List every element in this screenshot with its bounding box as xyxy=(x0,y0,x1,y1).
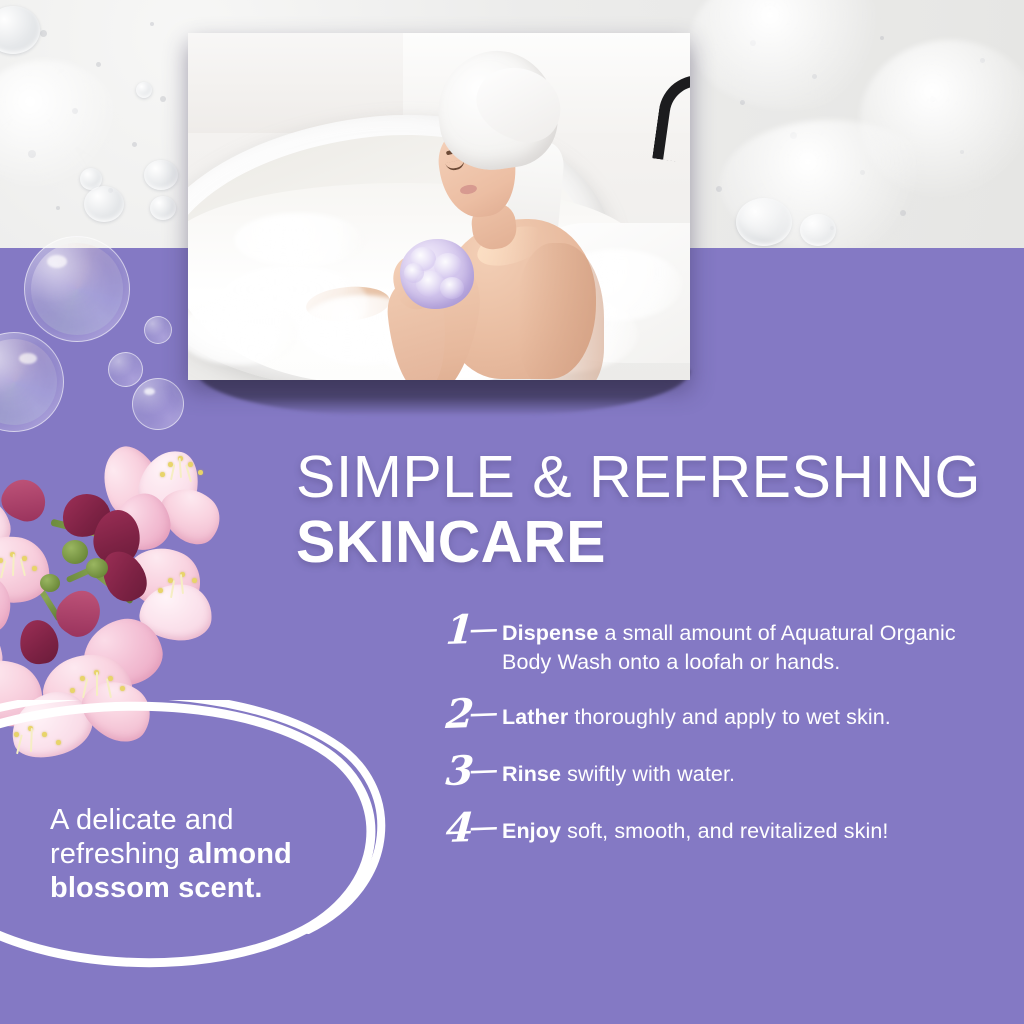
step-rest-4: soft, smooth, and revitalized skin! xyxy=(561,819,888,843)
headline-line-2: SKINCARE xyxy=(296,511,996,574)
step-text-4: Enjoy soft, smooth, and revitalized skin… xyxy=(502,816,889,846)
bubble-large-lower-left xyxy=(0,332,64,432)
bubble-small-a xyxy=(144,316,172,344)
list-item: 1— Dispense a small amount of Aquatural … xyxy=(446,618,986,676)
step-lead-3: Rinse xyxy=(502,762,561,786)
list-item: 3— Rinse swiftly with water. xyxy=(446,759,986,790)
step-rest-3: swiftly with water. xyxy=(561,762,735,786)
step-text-1: Dispense a small amount of Aquatural Org… xyxy=(502,618,986,676)
list-item: 4— Enjoy soft, smooth, and revitalized s… xyxy=(446,816,986,847)
headline-line-1: SIMPLE & REFRESHING xyxy=(296,448,996,507)
step-number-3: 3— xyxy=(445,752,504,791)
step-lead-1: Dispense xyxy=(502,621,598,645)
cherry-blossom-graphic xyxy=(0,432,284,792)
bubble-large-left xyxy=(24,236,130,342)
hero-photo-bath xyxy=(188,33,690,380)
step-text-3: Rinse swiftly with water. xyxy=(502,759,735,789)
step-lead-4: Enjoy xyxy=(502,819,561,843)
step-number-1: 1— xyxy=(445,611,504,650)
scent-callout-text: A delicate and refreshing almond blossom… xyxy=(50,803,350,906)
usage-steps-list: 1— Dispense a small amount of Aquatural … xyxy=(446,618,986,873)
step-rest-2: thoroughly and apply to wet skin. xyxy=(568,705,891,729)
page-title: SIMPLE & REFRESHING SKINCARE xyxy=(296,448,996,574)
step-lead-2: Lather xyxy=(502,705,568,729)
bubble-medium-c xyxy=(132,378,184,430)
step-number-2: 2— xyxy=(445,695,504,734)
step-number-4: 4— xyxy=(445,809,504,848)
product-marketing-graphic: SIMPLE & REFRESHING SKINCARE 1— Dispense… xyxy=(0,0,1024,1024)
step-text-2: Lather thoroughly and apply to wet skin. xyxy=(502,702,891,732)
loofah-sponge xyxy=(400,239,474,309)
list-item: 2— Lather thoroughly and apply to wet sk… xyxy=(446,702,986,733)
bubble-small-b xyxy=(108,352,143,387)
